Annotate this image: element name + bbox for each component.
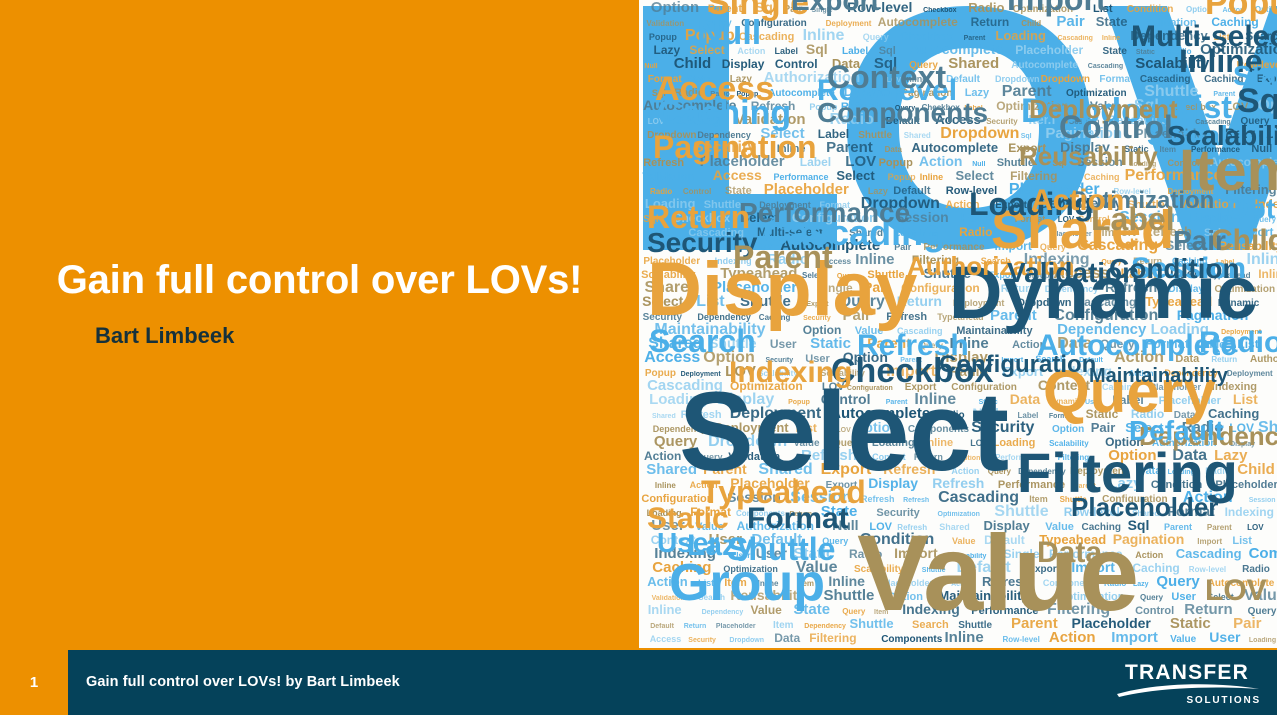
- svg-text:Return: Return: [971, 15, 1010, 29]
- svg-text:Autocomplete: Autocomplete: [1011, 60, 1078, 71]
- svg-text:Popup: Popup: [879, 157, 913, 169]
- svg-text:Refresh: Refresh: [903, 497, 929, 504]
- svg-text:Validation: Validation: [646, 19, 684, 28]
- slide-subtitle-author: Bart Limbeek: [0, 324, 639, 348]
- svg-text:Access: Access: [650, 634, 682, 644]
- svg-text:Inline: Inline: [1258, 267, 1277, 281]
- svg-text:Context: Context: [827, 59, 946, 95]
- svg-text:Condition: Condition: [1109, 253, 1240, 284]
- svg-text:Shared: Shared: [904, 131, 931, 140]
- svg-text:Scalability: Scalability: [1167, 120, 1277, 151]
- svg-text:Components: Components: [1249, 545, 1277, 562]
- svg-text:Security: Security: [688, 637, 716, 644]
- svg-text:Display: Display: [722, 57, 765, 71]
- svg-text:List: List: [1233, 391, 1258, 407]
- svg-text:Refresh: Refresh: [857, 329, 969, 362]
- svg-text:Sql: Sql: [1021, 133, 1032, 140]
- svg-text:Cascading: Cascading: [1058, 35, 1093, 42]
- svg-text:Inline: Inline: [920, 172, 944, 182]
- svg-text:Components: Components: [817, 97, 988, 128]
- svg-text:Shared: Shared: [948, 55, 999, 72]
- svg-text:Condition: Condition: [1127, 4, 1174, 15]
- wordcloud-canvas: OptionParentSqlPairSingleRow-levelCheckb…: [639, 0, 1277, 648]
- svg-text:User: User: [657, 527, 719, 558]
- svg-text:Placeholder: Placeholder: [1015, 43, 1083, 57]
- slide-number: 1: [0, 650, 68, 715]
- svg-text:Validation: Validation: [642, 171, 694, 183]
- svg-text:Default: Default: [1129, 415, 1224, 446]
- svg-text:Refresh: Refresh: [861, 494, 895, 504]
- svg-text:Session: Session: [1249, 497, 1276, 504]
- svg-text:Data: Data: [1010, 391, 1041, 407]
- svg-text:State: State: [1103, 46, 1128, 57]
- footer-title: Gain full control over LOVs! by Bart Lim…: [86, 648, 400, 715]
- svg-text:Placeholder: Placeholder: [764, 181, 849, 198]
- svg-text:Action: Action: [919, 153, 963, 169]
- svg-text:Pagination: Pagination: [653, 129, 817, 165]
- svg-text:Shared: Shared: [652, 413, 676, 420]
- svg-text:Dependency: Dependency: [804, 623, 846, 630]
- svg-text:Parent: Parent: [1207, 523, 1232, 532]
- svg-text:Row-level: Row-level: [1003, 635, 1040, 644]
- svg-text:Parent: Parent: [733, 239, 833, 275]
- svg-text:Radio: Radio: [1199, 326, 1277, 359]
- svg-text:Return: Return: [684, 623, 707, 630]
- svg-text:Null: Null: [972, 161, 985, 168]
- svg-text:Child: Child: [1021, 19, 1041, 28]
- svg-text:TRANSFER: TRANSFER: [1125, 661, 1249, 684]
- svg-text:Item: Item: [773, 620, 794, 631]
- svg-text:LOV: LOV: [1205, 574, 1267, 607]
- svg-text:User: User: [1209, 629, 1241, 645]
- svg-text:Import: Import: [1007, 0, 1107, 17]
- svg-text:Query: Query: [863, 32, 889, 42]
- svg-text:Format: Format: [1099, 74, 1134, 85]
- svg-text:Radio: Radio: [650, 187, 672, 196]
- svg-text:Format: Format: [747, 502, 849, 535]
- title-block: Gain full control over LOVs! Bart Limbee…: [0, 258, 639, 348]
- svg-text:Option: Option: [1052, 424, 1084, 435]
- svg-text:Performance: Performance: [739, 197, 910, 228]
- svg-text:Child: Child: [1237, 461, 1275, 478]
- svg-text:Pair: Pair: [1173, 225, 1226, 256]
- svg-text:Query: Query: [1140, 593, 1164, 602]
- svg-text:Cascading: Cascading: [1088, 63, 1123, 70]
- svg-text:Default: Default: [650, 623, 674, 630]
- svg-text:LOV: LOV: [1247, 523, 1264, 532]
- svg-text:Control: Control: [1059, 109, 1173, 145]
- svg-text:Option: Option: [1227, 193, 1277, 224]
- svg-text:State: State: [1233, 60, 1277, 91]
- svg-text:Sql: Sql: [806, 41, 828, 57]
- svg-text:Value: Value: [1170, 634, 1197, 645]
- svg-text:Popup: Popup: [649, 32, 677, 42]
- svg-text:Query: Query: [1156, 573, 1200, 590]
- svg-text:Placeholder: Placeholder: [716, 623, 756, 630]
- svg-text:SOLUTIONS: SOLUTIONS: [1186, 695, 1261, 705]
- svg-text:Components: Components: [881, 634, 943, 645]
- slide-footer: 1 Gain full control over LOVs! by Bart L…: [0, 648, 1277, 715]
- svg-text:Dropdown: Dropdown: [729, 637, 764, 644]
- svg-text:Action: Action: [1031, 184, 1124, 217]
- slide-root: Gain full control over LOVs! Bart Limbee…: [0, 0, 1277, 715]
- svg-text:Select: Select: [956, 168, 995, 183]
- svg-text:Control: Control: [683, 187, 711, 196]
- svg-text:Null: Null: [644, 63, 657, 70]
- svg-text:Radio: Radio: [959, 225, 992, 239]
- svg-text:Filtering: Filtering: [809, 631, 856, 645]
- svg-text:Inline: Inline: [655, 481, 676, 490]
- svg-text:Search: Search: [649, 323, 756, 359]
- svg-text:Radio: Radio: [968, 0, 1004, 15]
- svg-text:Inline: Inline: [1102, 35, 1120, 42]
- svg-text:Data: Data: [885, 145, 903, 154]
- svg-text:Static: Static: [1170, 615, 1211, 632]
- svg-text:State: State: [725, 185, 752, 197]
- page-title: Gain full control over LOVs!: [0, 258, 639, 302]
- svg-text:User: User: [770, 337, 797, 351]
- svg-text:Indexing: Indexing: [1225, 505, 1274, 519]
- svg-text:Maintainability: Maintainability: [1089, 365, 1229, 387]
- svg-text:Caching: Caching: [657, 94, 791, 132]
- svg-text:Popup: Popup: [888, 172, 916, 182]
- svg-text:Indexing: Indexing: [729, 356, 852, 389]
- svg-text:Placeholder: Placeholder: [1071, 492, 1218, 522]
- svg-text:Access: Access: [713, 167, 762, 183]
- wordcloud-image: OptionParentSqlPairSingleRow-levelCheckb…: [639, 0, 1277, 648]
- svg-text:Data: Data: [1037, 536, 1102, 569]
- svg-text:Popup: Popup: [1205, 0, 1277, 22]
- svg-text:Autocomplete: Autocomplete: [878, 15, 958, 29]
- svg-text:Loading: Loading: [1249, 637, 1276, 644]
- svg-text:Label: Label: [775, 46, 799, 56]
- svg-text:Reusability: Reusability: [1019, 141, 1158, 171]
- svg-text:Null: Null: [697, 14, 761, 52]
- svg-text:Option: Option: [651, 0, 699, 16]
- svg-text:Cascading: Cascading: [1176, 546, 1242, 561]
- svg-text:Import: Import: [1197, 537, 1222, 546]
- svg-text:Action: Action: [1135, 550, 1163, 560]
- svg-text:Export: Export: [791, 0, 880, 16]
- svg-text:Data: Data: [774, 631, 800, 645]
- svg-text:Value: Value: [857, 512, 1139, 633]
- transfer-solutions-logo: TRANSFER SOLUTIONS: [1111, 659, 1263, 705]
- svg-text:Deployment: Deployment: [1227, 369, 1273, 378]
- svg-text:Checkbox: Checkbox: [923, 7, 957, 14]
